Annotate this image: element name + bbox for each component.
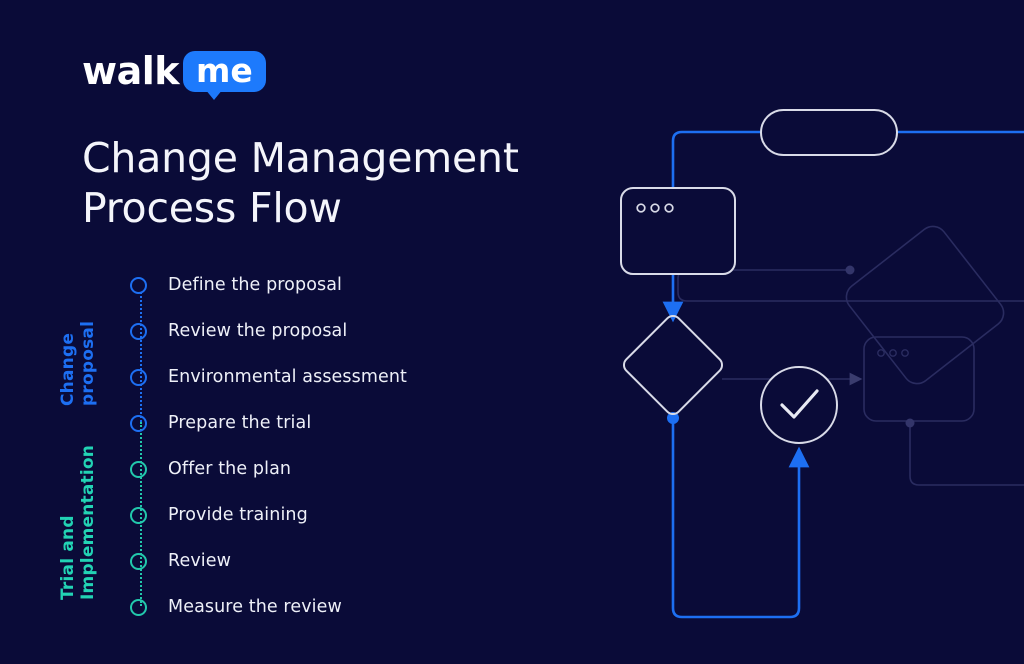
step-label: Review the proposal bbox=[168, 321, 347, 341]
background-browser-node bbox=[864, 337, 974, 421]
step-bullet-icon bbox=[130, 415, 147, 432]
step-bullet-icon bbox=[130, 599, 147, 616]
step-bullet-icon bbox=[130, 507, 147, 524]
step-label: Provide training bbox=[168, 505, 308, 525]
step-label: Environmental assessment bbox=[168, 367, 407, 387]
step-bullet-icon bbox=[130, 323, 147, 340]
list-item[interactable]: Define the proposal bbox=[130, 274, 342, 296]
step-bullet-icon bbox=[130, 369, 147, 386]
browser-dot-icon bbox=[878, 350, 884, 356]
success-check-node bbox=[761, 367, 837, 443]
step-label: Measure the review bbox=[168, 597, 342, 617]
list-item[interactable]: Review bbox=[130, 550, 231, 572]
step-label: Prepare the trial bbox=[168, 413, 311, 433]
browser-dot-icon bbox=[890, 350, 896, 356]
decision-diamond-node bbox=[621, 313, 726, 418]
faint-connector-dot bbox=[906, 419, 915, 428]
step-bullet-icon bbox=[130, 461, 147, 478]
list-item[interactable]: Offer the plan bbox=[130, 458, 291, 480]
slide-canvas: walk me Change Management Process Flow C… bbox=[0, 0, 1024, 664]
step-bullet-icon bbox=[130, 553, 147, 570]
step-label: Review bbox=[168, 551, 231, 571]
faint-connector-dot bbox=[846, 266, 855, 275]
pill-node bbox=[761, 110, 897, 155]
list-item[interactable]: Prepare the trial bbox=[130, 412, 311, 434]
step-label: Define the proposal bbox=[168, 275, 342, 295]
list-item[interactable]: Environmental assessment bbox=[130, 366, 407, 388]
process-step-list: Define the proposal Review the proposal … bbox=[0, 0, 620, 664]
browser-window-node bbox=[621, 188, 735, 274]
list-item[interactable]: Provide training bbox=[130, 504, 308, 526]
process-flow-decoration bbox=[600, 100, 1024, 640]
step-label: Offer the plan bbox=[168, 459, 291, 479]
list-item[interactable]: Measure the review bbox=[130, 596, 342, 618]
list-item[interactable]: Review the proposal bbox=[130, 320, 347, 342]
step-connector-blue bbox=[140, 292, 142, 422]
browser-dot-icon bbox=[902, 350, 908, 356]
background-diamond-node bbox=[841, 221, 1009, 389]
step-bullet-icon bbox=[130, 277, 147, 294]
